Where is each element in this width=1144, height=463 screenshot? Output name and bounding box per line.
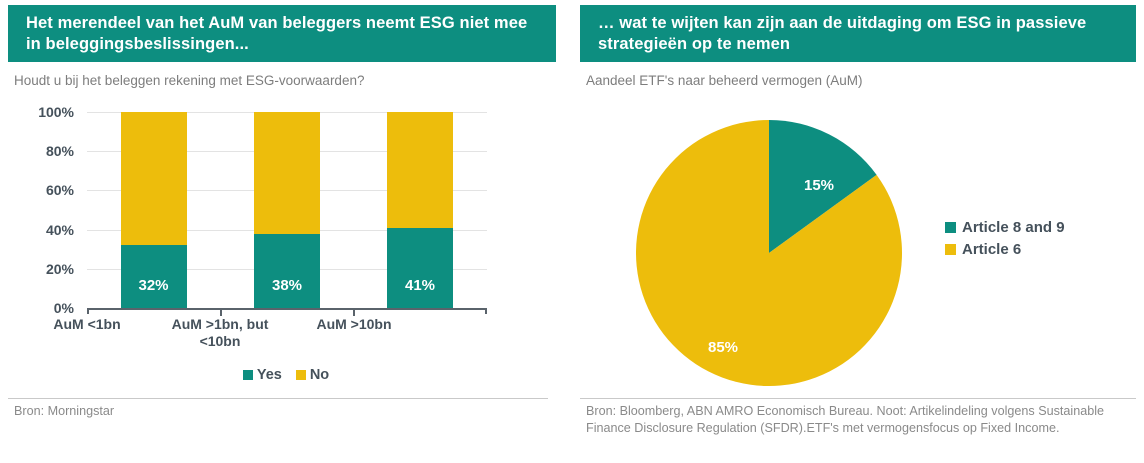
- legend-swatch-yes: [243, 370, 253, 380]
- x-axis-tick-1: [220, 309, 222, 316]
- legend-swatch-article-6: [945, 244, 956, 255]
- bar-segment-no: [254, 112, 320, 234]
- legend-item-no[interactable]: No: [296, 367, 329, 383]
- right-panel-source-note: Bron: Bloomberg, ABN AMRO Economisch Bur…: [586, 403, 1126, 437]
- pie-chart-svg: [636, 120, 902, 386]
- right-footer-divider: [580, 398, 1136, 399]
- x-axis-right-cap: [485, 308, 487, 314]
- y-axis-tick-label: 0%: [14, 300, 74, 316]
- stacked-bar[interactable]: 38%: [254, 112, 320, 308]
- left-footer-divider: [8, 398, 548, 399]
- bar-chart-plot-area: 32%38%41%: [87, 112, 487, 308]
- legend-swatch-no: [296, 370, 306, 380]
- legend-item-yes[interactable]: Yes: [243, 367, 282, 383]
- legend-label-no: No: [310, 367, 329, 383]
- y-axis-tick-label: 80%: [14, 143, 74, 159]
- left-chart-panel: Het merendeel van het AuM van beleggers …: [0, 0, 572, 463]
- x-axis-left-cap: [87, 308, 89, 314]
- bar-segment-yes: 32%: [121, 245, 187, 308]
- right-panel-banner-title: … wat te wijten kan zijn aan de uitdagin…: [580, 5, 1136, 62]
- x-axis-tick-2: [353, 309, 355, 316]
- y-axis-tick-label: 20%: [14, 261, 74, 277]
- x-axis-category-label: AuM >10bn: [287, 316, 421, 333]
- pie-slice-label-article-6: 85%: [708, 339, 738, 356]
- bar-segment-yes: 41%: [387, 228, 453, 308]
- bar-value-label: 32%: [121, 277, 187, 294]
- legend-label-yes: Yes: [257, 367, 282, 383]
- left-panel-source-note: Bron: Morningstar: [14, 403, 534, 420]
- stacked-bar[interactable]: 32%: [121, 112, 187, 308]
- bar-chart-legend: Yes No: [0, 367, 572, 383]
- legend-swatch-article-8-and-9: [945, 222, 956, 233]
- pie-chart: 15% 85%: [636, 120, 902, 386]
- legend-label-article-6: Article 6: [962, 241, 1021, 258]
- left-panel-banner-title: Het merendeel van het AuM van beleggers …: [8, 5, 556, 62]
- y-axis-tick-label: 100%: [14, 104, 74, 120]
- dual-chart-board: Het merendeel van het AuM van beleggers …: [0, 0, 1144, 463]
- bar-segment-yes: 38%: [254, 234, 320, 308]
- legend-item-article-8-and-9[interactable]: Article 8 and 9: [945, 219, 1065, 236]
- bar-chart-x-axis-line: [87, 308, 487, 310]
- pie-chart-legend: Article 8 and 9 Article 6: [945, 219, 1065, 263]
- x-axis-category-label: AuM <1bn: [20, 316, 154, 333]
- y-axis-tick-label: 40%: [14, 222, 74, 238]
- bar-chart-y-axis: 0%20%40%60%80%100%: [12, 0, 74, 463]
- x-axis-category-label: AuM >1bn, but <10bn: [153, 316, 287, 350]
- stacked-bar[interactable]: 41%: [387, 112, 453, 308]
- bar-value-label: 41%: [387, 277, 453, 294]
- right-panel-subtitle: Aandeel ETF's naar beheerd vermogen (AuM…: [586, 73, 862, 89]
- legend-item-article-6[interactable]: Article 6: [945, 241, 1065, 258]
- pie-slice-label-article-8-9: 15%: [804, 177, 834, 194]
- y-axis-tick-label: 60%: [14, 182, 74, 198]
- bar-segment-no: [121, 112, 187, 245]
- bar-segment-no: [387, 112, 453, 228]
- legend-label-article-8-and-9: Article 8 and 9: [962, 219, 1065, 236]
- bar-value-label: 38%: [254, 277, 320, 294]
